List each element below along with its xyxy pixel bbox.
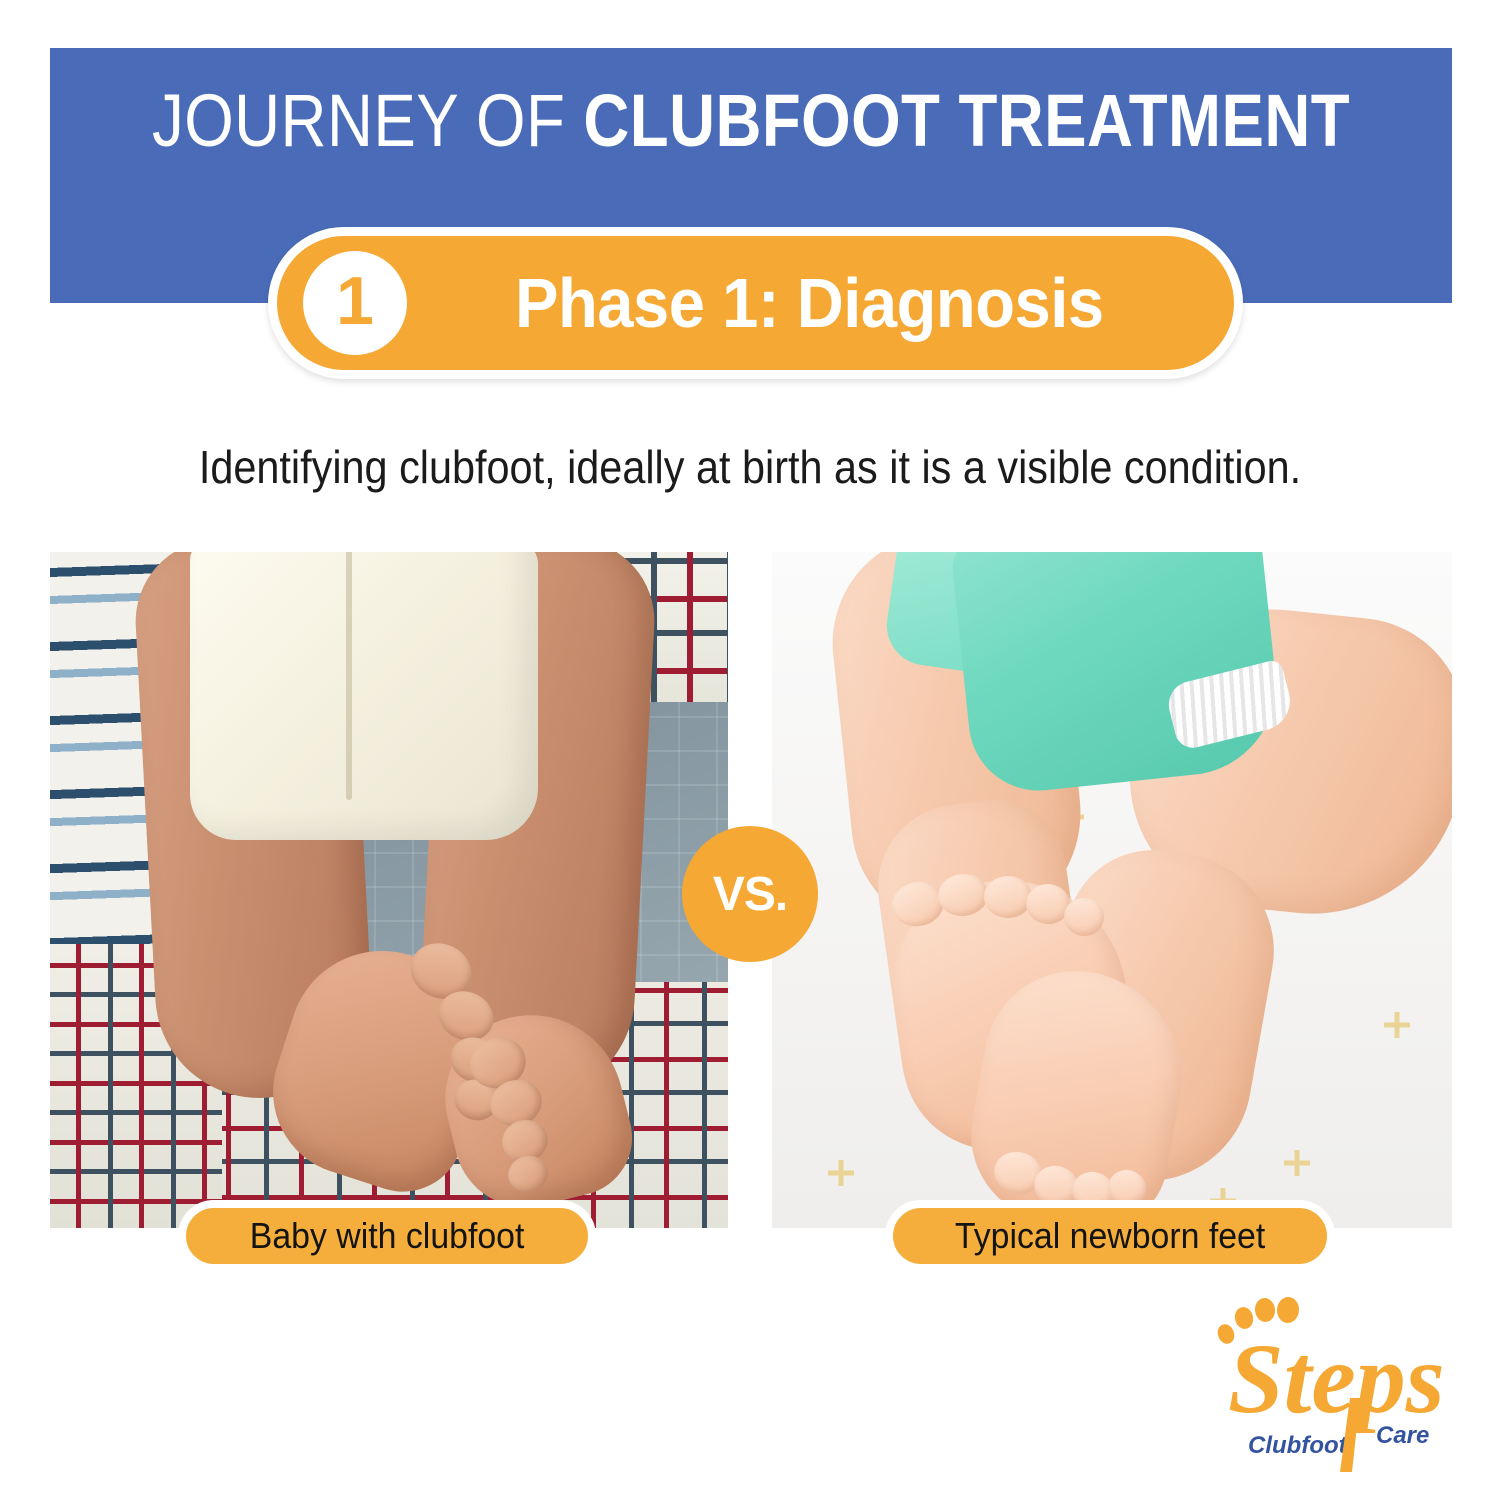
page-title: JOURNEY OF CLUBFOOT TREATMENT xyxy=(148,78,1354,164)
clubfoot-diaper xyxy=(190,552,538,840)
caption-pill-clubfoot: Baby with clubfoot xyxy=(178,1200,596,1272)
title-bold-part: CLUBFOOT TREATMENT xyxy=(583,79,1350,162)
caption-label-typical: Typical newborn feet xyxy=(955,1215,1265,1257)
sheet-star-motif xyxy=(1284,1150,1310,1176)
steps-clubfoot-care-logo: Steps Clubfoot Care xyxy=(1200,1290,1470,1475)
caption-label-clubfoot: Baby with clubfoot xyxy=(250,1215,525,1257)
phase-badge[interactable]: 1 Phase 1: Diagnosis xyxy=(268,227,1243,379)
steps-wordmark: Steps xyxy=(1228,1323,1445,1434)
svg-text:Clubfoot: Clubfoot xyxy=(1248,1432,1348,1459)
photo-clubfoot xyxy=(50,552,728,1228)
svg-text:Steps: Steps xyxy=(1228,1323,1445,1434)
subtitle-text: Identifying clubfoot, ideally at birth a… xyxy=(75,438,1425,496)
phase-label: Phase 1: Diagnosis xyxy=(436,263,1205,343)
sheet-star-motif xyxy=(1384,1012,1410,1038)
title-light-part: JOURNEY OF xyxy=(152,79,565,162)
phase-number-circle: 1 xyxy=(303,251,407,355)
photo-typical-feet xyxy=(772,552,1452,1228)
infographic-page: JOURNEY OF CLUBFOOT TREATMENT 1 Phase 1:… xyxy=(0,0,1500,1500)
vs-badge: VS. xyxy=(682,826,818,962)
svg-text:Care: Care xyxy=(1376,1422,1429,1449)
vs-label: VS. xyxy=(713,867,787,922)
caption-pill-typical: Typical newborn feet xyxy=(885,1200,1335,1272)
typical-toe xyxy=(984,876,1032,918)
sheet-star-motif xyxy=(828,1160,854,1186)
